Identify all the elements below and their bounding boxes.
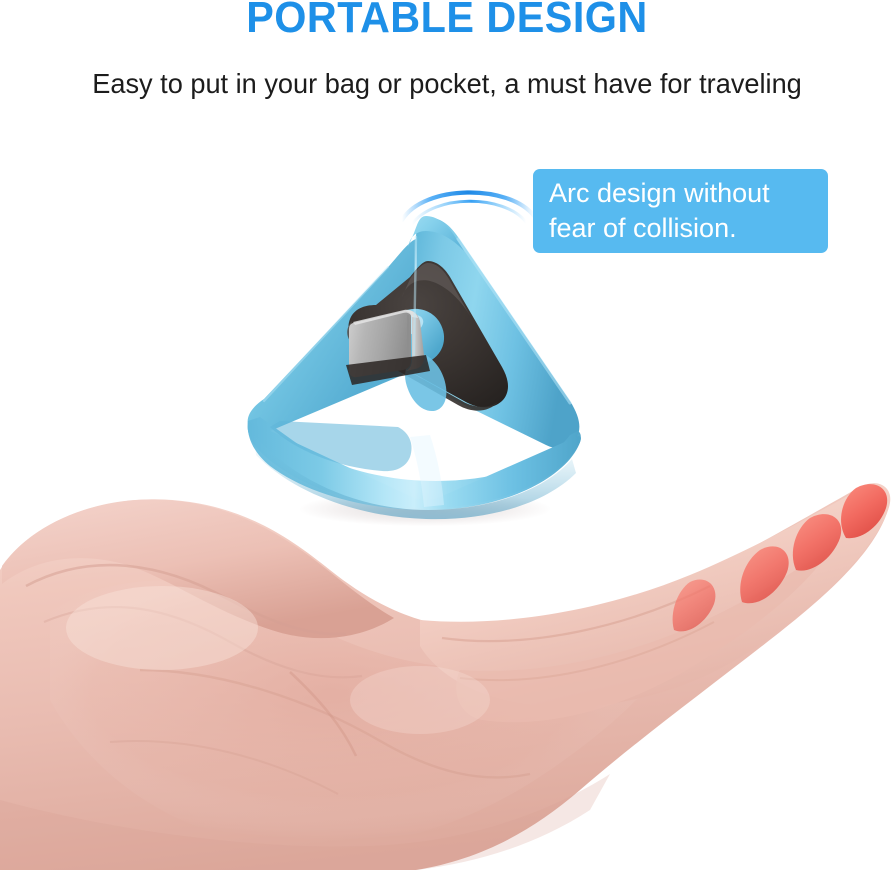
hand-highlight [66,586,258,670]
page-subtitle: Easy to put in your bag or pocket, a mus… [13,66,880,102]
fingernail [841,484,887,538]
callout-line-2: fear of collision. [549,211,828,246]
product-marketing-image: PORTABLE DESIGN Easy to put in your bag … [0,0,894,870]
hand-highlight [350,666,490,734]
page-title: PORTABLE DESIGN [27,0,867,44]
callout-box: Arc design without fear of collision. [533,169,828,253]
callout-line-1: Arc design without [549,176,828,211]
